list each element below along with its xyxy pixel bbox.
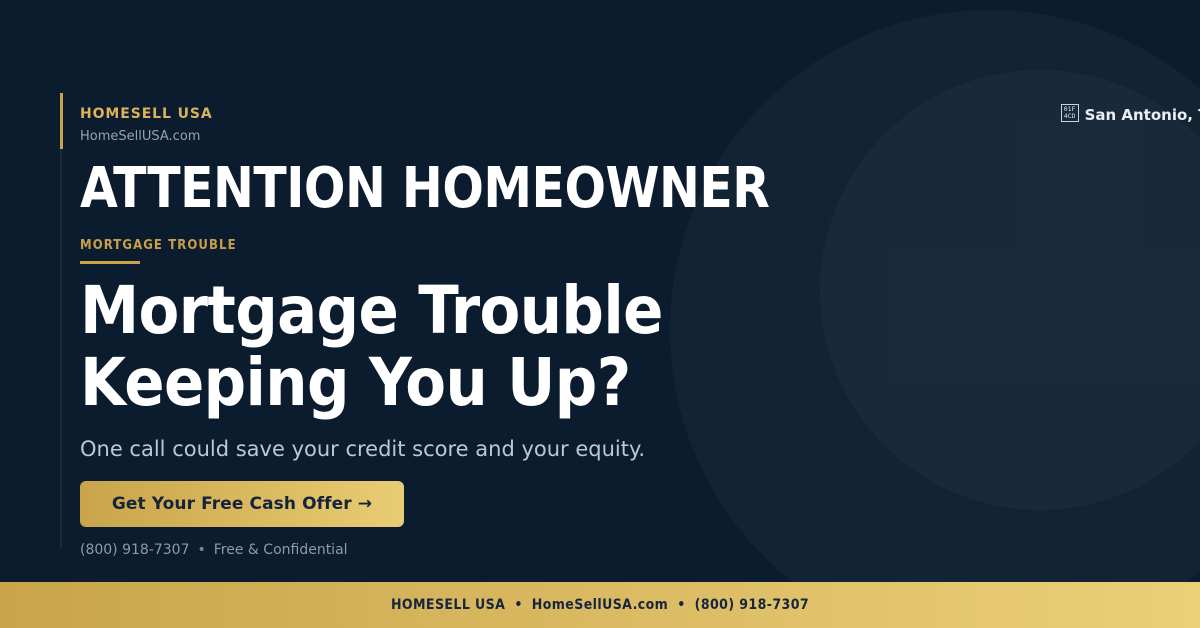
eyebrow-underline bbox=[80, 261, 140, 264]
subheadline: One call could save your credit score an… bbox=[80, 435, 645, 463]
trust-line: (800) 918-7307•Free & Confidential bbox=[80, 541, 348, 560]
footer-separator-1: • bbox=[514, 597, 522, 613]
trust-separator: • bbox=[198, 542, 206, 558]
footer-phone[interactable]: (800) 918-7307 bbox=[695, 597, 809, 613]
pin-glyph-bottom: 4CD bbox=[1062, 113, 1078, 120]
headline-line-1: Mortgage Trouble bbox=[80, 275, 663, 347]
footer-contact-line: HOMESELL USA•HomeSellUSA.com•(800) 918-7… bbox=[391, 597, 809, 613]
ad-banner: HOMESELL USA HomeSellUSA.com 01F 4CD San… bbox=[0, 0, 1200, 628]
footer-separator-2: • bbox=[677, 597, 685, 613]
attention-headline: ATTENTION HOMEOWNER bbox=[80, 158, 769, 220]
left-rail-divider bbox=[60, 148, 62, 548]
page-title: Mortgage Trouble Keeping You Up? bbox=[80, 275, 663, 419]
location-label: San Antonio, TX bbox=[1085, 106, 1200, 124]
brand-website: HomeSellUSA.com bbox=[80, 128, 213, 146]
left-rail-accent bbox=[60, 93, 63, 149]
trust-phone[interactable]: (800) 918-7307 bbox=[80, 542, 190, 558]
footer-brand: HOMESELL USA bbox=[391, 597, 505, 613]
hero-content: HOMESELL USA HomeSellUSA.com 01F 4CD San… bbox=[80, 0, 1140, 582]
get-free-cash-offer-button[interactable]: Get Your Free Cash Offer → bbox=[80, 481, 404, 527]
trust-note: Free & Confidential bbox=[214, 542, 348, 558]
headline-line-2: Keeping You Up? bbox=[80, 347, 663, 419]
location-badge: 01F 4CD San Antonio, TX bbox=[80, 104, 1200, 124]
eyebrow-label: MORTGAGE TROUBLE bbox=[80, 238, 237, 254]
footer-bar: HOMESELL USA•HomeSellUSA.com•(800) 918-7… bbox=[0, 582, 1200, 628]
location-pin-icon: 01F 4CD bbox=[1061, 104, 1079, 122]
footer-website[interactable]: HomeSellUSA.com bbox=[532, 597, 668, 613]
